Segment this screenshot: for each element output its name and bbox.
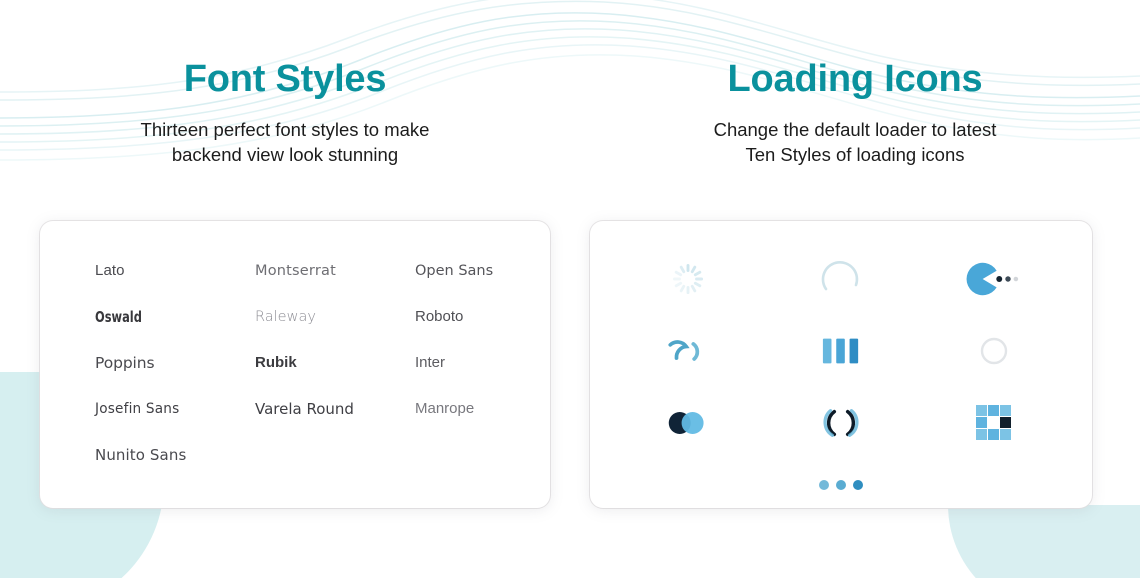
- parenthesis-loader-icon: [821, 404, 861, 442]
- loading-icons-card: [590, 221, 1092, 508]
- three-dots-loader-icon: [818, 478, 864, 492]
- arc-spinner-icon: [819, 257, 863, 301]
- page-title-loading-icons: Loading Icons: [570, 58, 1140, 102]
- subtitle-line-1: Thirteen perfect font styles to make: [141, 119, 430, 140]
- font-styles-card: Lato Montserrat Open Sans Oswald Raleway…: [40, 221, 550, 508]
- font-item-montserrat[interactable]: Montserrat: [255, 259, 415, 283]
- loading-icons-grid: [590, 221, 1092, 508]
- loader-item-2[interactable]: [765, 243, 918, 315]
- font-item-inter[interactable]: Inter: [415, 351, 565, 375]
- font-item-poppins[interactable]: Poppins: [95, 351, 255, 375]
- font-grid-spacer-2: [415, 443, 565, 467]
- subtitle-line-2: backend view look stunning: [172, 144, 398, 165]
- loader-item-7[interactable]: [612, 387, 765, 459]
- panel-subtitle-loading-icons: Change the default loader to latest Ten …: [570, 117, 1140, 168]
- font-item-roboto[interactable]: Roboto: [415, 305, 565, 329]
- font-item-nunito-sans[interactable]: Nunito Sans: [95, 443, 255, 467]
- panel-loading-icons: Loading Icons Change the default loader …: [570, 0, 1140, 578]
- font-item-open-sans[interactable]: Open Sans: [415, 259, 565, 283]
- font-grid-spacer-1: [255, 443, 415, 467]
- ring-loader-icon: [979, 336, 1009, 366]
- page-title-font-styles: Font Styles: [0, 58, 570, 102]
- font-item-josefin-sans[interactable]: Josefin Sans: [95, 397, 245, 421]
- font-item-lato[interactable]: Lato: [95, 259, 255, 283]
- spinner-ticks-icon: [671, 262, 705, 296]
- loader-item-5[interactable]: [765, 315, 918, 387]
- page-root: Font Styles Thirteen perfect font styles…: [0, 0, 1140, 578]
- pacman-loader-icon: [966, 262, 1022, 296]
- loader-item-1[interactable]: [612, 243, 765, 315]
- loader-item-3[interactable]: [917, 243, 1070, 315]
- font-item-manrope[interactable]: Manrope: [415, 397, 565, 421]
- two-circles-loader-icon: [666, 409, 710, 437]
- loader-item-4[interactable]: [612, 315, 765, 387]
- font-item-oswald[interactable]: Oswald: [95, 305, 226, 329]
- bars-loader-icon: [821, 334, 861, 368]
- loader-item-6[interactable]: [917, 315, 1070, 387]
- panel-subtitle-font-styles: Thirteen perfect font styles to make bac…: [0, 117, 570, 168]
- font-item-rubik[interactable]: Rubik: [255, 351, 415, 375]
- font-styles-grid: Lato Montserrat Open Sans Oswald Raleway…: [40, 221, 550, 467]
- subtitle-line-2: Ten Styles of loading icons: [745, 144, 964, 165]
- subtitle-line-1: Change the default loader to latest: [714, 119, 997, 140]
- panel-font-styles: Font Styles Thirteen perfect font styles…: [0, 0, 570, 578]
- loader-item-10[interactable]: [612, 459, 1070, 511]
- dual-arc-loader-icon: [665, 334, 711, 368]
- font-item-varela-round[interactable]: Varela Round: [255, 397, 415, 421]
- loader-item-8[interactable]: [765, 387, 918, 459]
- font-item-raleway[interactable]: Raleway: [255, 305, 415, 329]
- loader-item-9[interactable]: [917, 387, 1070, 459]
- grid-loader-icon: [975, 404, 1013, 442]
